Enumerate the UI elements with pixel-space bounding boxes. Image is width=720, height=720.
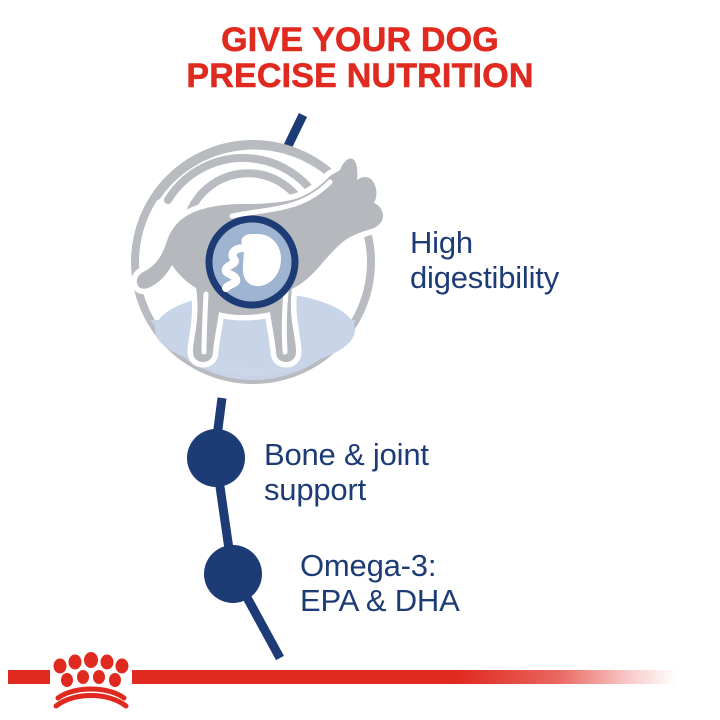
feature-label-line-2: support [264, 472, 429, 507]
feature-label-line-1: Omega-3: [300, 548, 460, 583]
brand-bar [0, 630, 720, 720]
dog-neck-line [232, 182, 330, 216]
crown-pearl-bottom-2 [77, 670, 89, 684]
dog-body-halo [137, 158, 383, 362]
connector-dot-bone-joint [187, 429, 245, 487]
highlight-circle-ring [209, 219, 295, 305]
crown-pearl-top-3 [84, 652, 98, 668]
royal-canin-crown-logo [54, 652, 129, 706]
feature-label-omega-3: Omega-3: EPA & DHA [300, 548, 460, 618]
intestine-coil [226, 248, 244, 288]
digestion-highlight-circle [209, 219, 295, 305]
feature-label-line-1: Bone & joint [264, 437, 429, 472]
brand-bar-main [132, 670, 677, 684]
ring-outer [135, 144, 371, 380]
crown-pearl-top-2 [69, 655, 82, 670]
crown-pearl-bottom-1 [61, 673, 73, 687]
connector-dot-omega-3 [204, 545, 262, 603]
ring-arc-3 [186, 173, 311, 246]
promo-page: GIVE YOUR DOG PRECISE NUTRITION [0, 0, 720, 720]
feature-label-line-2: EPA & DHA [300, 583, 460, 618]
stomach-intestine-icon [226, 236, 279, 288]
ring-arc-2 [168, 158, 325, 214]
highlight-circle-fill [209, 219, 295, 305]
page-title: GIVE YOUR DOG PRECISE NUTRITION [0, 22, 720, 94]
feature-label-bone-joint-support: Bone & joint support [264, 437, 429, 507]
page-title-line-1: GIVE YOUR DOG [0, 22, 720, 58]
brand-bar-left-segment [8, 670, 50, 684]
dog-body [137, 158, 383, 362]
feature-label-line-1: High [410, 225, 559, 260]
feature-label-line-2: digestibility [410, 260, 559, 295]
page-title-line-2: PRECISE NUTRITION [0, 58, 720, 94]
feature-label-high-digestibility: High digestibility [410, 225, 559, 295]
dog-rear-leg-line [204, 294, 206, 352]
connector-top-segment [286, 115, 303, 150]
crown-arc-lower [56, 696, 126, 707]
crown-pearl-top-4 [101, 655, 114, 670]
ring-middle [157, 146, 335, 196]
concentric-rings [135, 144, 371, 380]
dog-silhouette [137, 158, 383, 362]
crown-pearl-top-5 [116, 659, 129, 674]
crown-pearl-bottom-4 [109, 673, 121, 687]
crown-pearl-bottom-3 [93, 670, 105, 684]
crown-pearl-top-1 [54, 659, 67, 674]
stomach-shape [243, 236, 279, 284]
dog-front-leg-line [284, 292, 286, 352]
ground-shadow [150, 320, 356, 380]
ground-shadow-ellipse [155, 292, 355, 368]
